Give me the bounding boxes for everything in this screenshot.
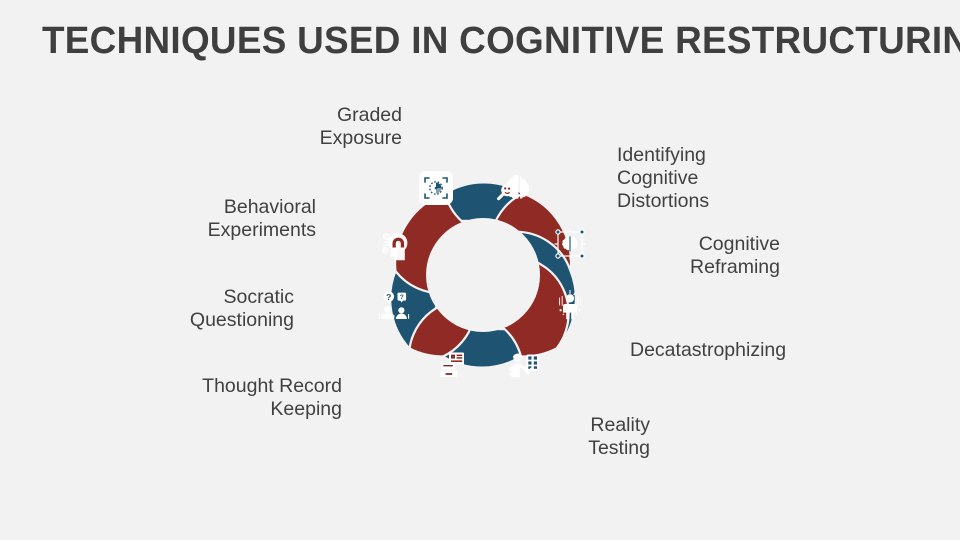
label-socratic-questioning: Socratic Questioning bbox=[100, 286, 294, 332]
label-graded-exposure: Graded Exposure bbox=[206, 104, 402, 150]
slide-canvas: Techniques Used in Cognitive Restructuri… bbox=[0, 0, 960, 540]
cognitive-restructuring-ring-diagram: ? ? bbox=[333, 125, 633, 425]
label-thought-record-keeping: Thought Record Keeping bbox=[150, 375, 342, 421]
label-behavioral-experiments: Behavioral Experiments bbox=[128, 196, 316, 242]
label-identifying-cognitive-distortions: Identifying Cognitive Distortions bbox=[617, 144, 857, 213]
label-cognitive-reframing: Cognitive Reframing bbox=[590, 233, 780, 279]
label-reality-testing: Reality Testing bbox=[500, 414, 650, 460]
ring-graphic bbox=[333, 125, 633, 425]
page-title: Techniques Used in Cognitive Restructuri… bbox=[42, 18, 896, 64]
label-decatastrophizing: Decatastrophizing bbox=[630, 339, 890, 362]
ring-center-hole bbox=[426, 218, 540, 332]
